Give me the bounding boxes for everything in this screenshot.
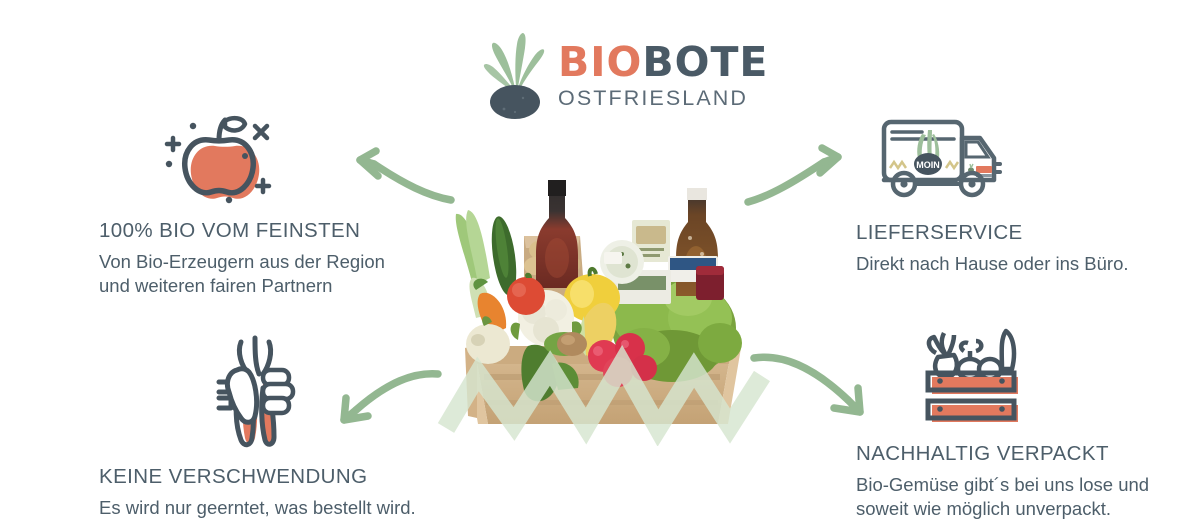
feature-title: 100% BIO VOM FEINSTEN: [99, 219, 385, 244]
logo-word-bote: BOTE: [642, 38, 768, 86]
feature-bio: 100% BIO VOM FEINSTEN Von Bio-Erzeugern …: [99, 112, 385, 298]
hand-holding-carrots-icon: [207, 334, 416, 457]
wine-bottle: [536, 180, 578, 288]
logo-subtitle: OSTFRIESLAND: [558, 86, 768, 111]
feature-description: Direkt nach Hause oder ins Büro.: [856, 252, 1129, 276]
feature-lieferservice: MOIN LIEFERSERVICE Direkt na: [856, 112, 1129, 276]
logo-text-block: BIOBOTE OSTFRIESLAND: [558, 24, 768, 111]
feature-title: KEINE VERSCHWENDUNG: [99, 465, 416, 490]
truck-moin-label: MOIN: [916, 160, 940, 170]
apple-sparkle-icon: [159, 112, 385, 209]
feature-description: Von Bio-Erzeugern aus der Region und wei…: [99, 250, 385, 299]
mushroom: [557, 332, 587, 356]
feature-title: NACHHALTIG VERPACKT: [856, 442, 1149, 467]
feature-description: Bio-Gemüse gibt´s bei uns lose und sowei…: [856, 473, 1149, 522]
beet-logo-icon: [482, 24, 548, 120]
feature-description: Es wird nur geerntet, was bestellt wird.: [99, 496, 416, 520]
feature-verschwendung: KEINE VERSCHWENDUNG Es wird nur geerntet…: [99, 334, 416, 520]
logo-word-bio: BIO: [558, 38, 642, 86]
vegetable-crate-icon: [918, 323, 1149, 428]
feature-title: LIEFERSERVICE: [856, 221, 1129, 246]
vegetable-basket-photo: [432, 178, 772, 446]
infographic-page: BIOBOTE OSTFRIESLAND: [0, 0, 1199, 531]
delivery-truck-icon: MOIN: [876, 112, 1129, 209]
logo-wordmark: BIOBOTE: [558, 42, 768, 83]
cheese-round: [600, 240, 644, 284]
feature-verpackt: NACHHALTIG VERPACKT Bio-Gemüse gibt´s be…: [856, 323, 1149, 521]
brand-logo[interactable]: BIOBOTE OSTFRIESLAND: [482, 24, 722, 128]
